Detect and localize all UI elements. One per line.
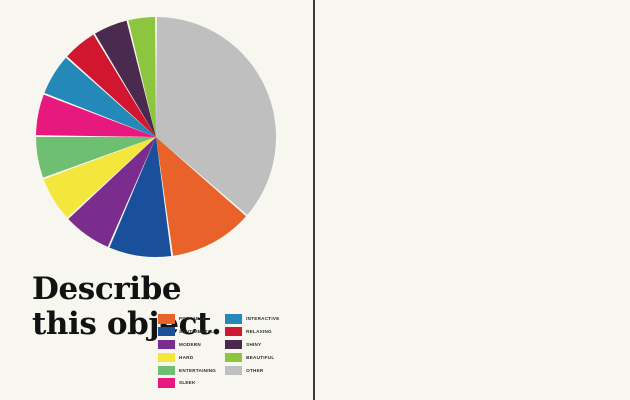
legend-label: BEAUTIFUL — [246, 353, 274, 363]
legend-item-hard[interactable]: HARD — [158, 353, 216, 363]
legend-swatch-icon — [225, 327, 242, 337]
legend-item-relaxing[interactable]: RELAXING — [225, 327, 279, 337]
legend-item-sentimental[interactable]: SENTIMENTAL — [158, 327, 216, 337]
left-panel: Describe this object. PORTABLESENTIMENTA… — [0, 0, 313, 400]
pie-chart-svg — [36, 8, 276, 266]
pie-legend: PORTABLESENTIMENTALMODERNHARDENTERTAININ… — [158, 314, 308, 398]
legend-label: SENTIMENTAL — [179, 327, 214, 337]
legend-label: ENTERTAINING — [179, 366, 216, 376]
legend-item-shiny[interactable]: SHINY — [225, 340, 279, 350]
legend-label: HARD — [179, 353, 193, 363]
legend-swatch-icon — [158, 378, 175, 388]
legend-label: INTERACTIVE — [246, 314, 279, 324]
pie-slice-group — [36, 17, 276, 257]
legend-swatch-icon — [158, 327, 175, 337]
legend-swatch-icon — [158, 314, 175, 324]
legend-swatch-icon — [158, 340, 175, 350]
right-panel: Pick 3 emotions you feel when you intera… — [315, 0, 630, 400]
legend-label: PORTABLE — [179, 314, 206, 324]
legend-swatch-icon — [225, 366, 242, 376]
legend-item-other[interactable]: OTHER — [225, 366, 279, 376]
legend-swatch-icon — [158, 353, 175, 363]
pie-chart — [36, 8, 276, 266]
legend-label: SLEEK — [179, 378, 196, 388]
legend-swatch-icon — [225, 314, 242, 324]
legend-label: RELAXING — [246, 327, 272, 337]
legend-label: OTHER — [246, 366, 263, 376]
legend-item-interactive[interactable]: INTERACTIVE — [225, 314, 279, 324]
legend-swatch-icon — [225, 340, 242, 350]
legend-column-1: PORTABLESENTIMENTALMODERNHARDENTERTAININ… — [158, 314, 216, 398]
legend-swatch-icon — [225, 353, 242, 363]
legend-item-entertaining[interactable]: ENTERTAINING — [158, 366, 216, 376]
legend-label: MODERN — [179, 340, 201, 350]
legend-item-modern[interactable]: MODERN — [158, 340, 216, 350]
legend-swatch-icon — [158, 366, 175, 376]
legend-item-portable[interactable]: PORTABLE — [158, 314, 216, 324]
legend-column-2: INTERACTIVERELAXINGSHINYBEAUTIFULOTHER — [225, 314, 279, 398]
legend-item-beautiful[interactable]: BEAUTIFUL — [225, 353, 279, 363]
legend-label: SHINY — [246, 340, 261, 350]
legend-item-sleek[interactable]: SLEEK — [158, 378, 216, 388]
